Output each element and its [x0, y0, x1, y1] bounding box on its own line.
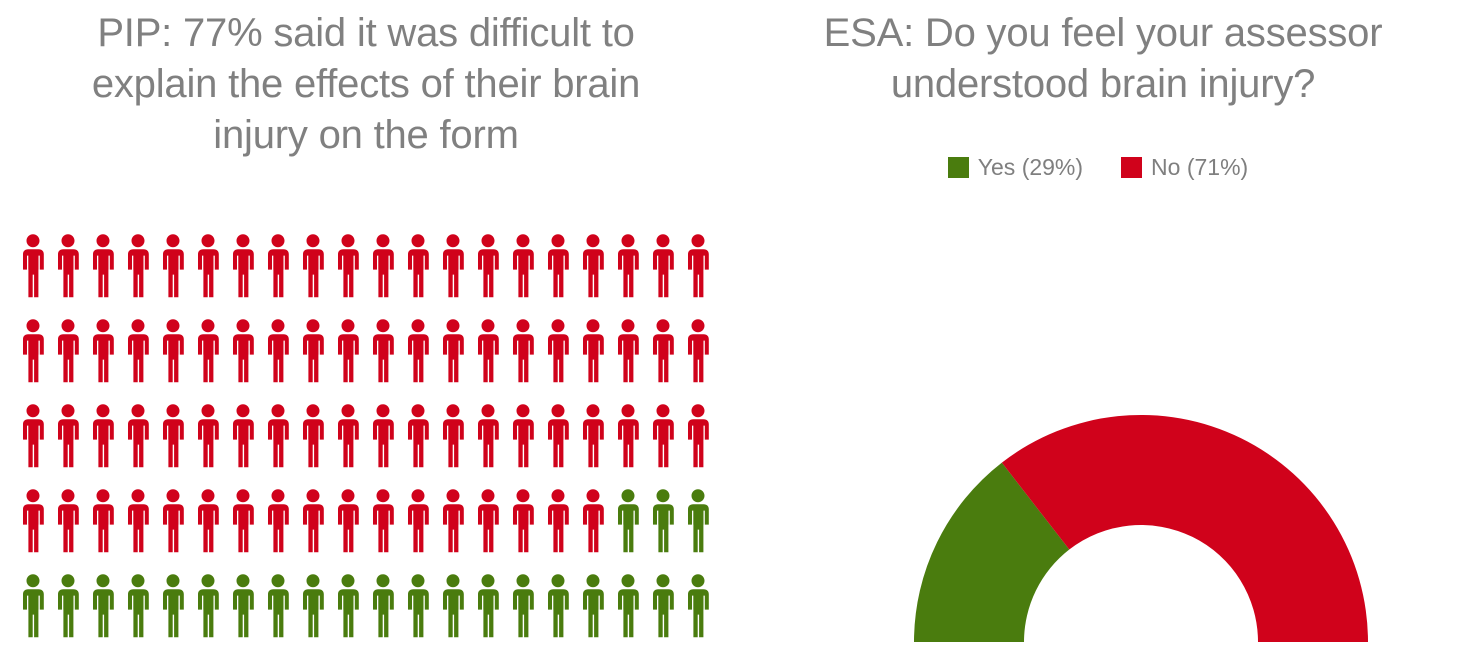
person-icon-red	[16, 232, 50, 300]
esa-title-line-1: ESA: Do you feel your assessor	[758, 8, 1448, 59]
person-icon-red	[51, 317, 85, 385]
person-icon-green	[86, 572, 120, 640]
legend-label-no: No (71%)	[1151, 156, 1248, 179]
person-icon-red	[86, 317, 120, 385]
person-icon-red	[261, 317, 295, 385]
person-icon-red	[331, 402, 365, 470]
person-icon-red	[646, 402, 680, 470]
person-icon-red	[121, 317, 155, 385]
person-icon-red	[401, 232, 435, 300]
person-icon-red	[611, 232, 645, 300]
person-icon-red	[16, 487, 50, 555]
esa-title-line-2: understood brain injury?	[758, 59, 1448, 110]
person-icon-green	[261, 572, 295, 640]
person-icon-green	[366, 572, 400, 640]
person-icon-green	[611, 572, 645, 640]
person-icon-red	[401, 317, 435, 385]
pip-pictogram-grid	[16, 232, 716, 657]
pip-title-line-3: injury on the form	[24, 110, 708, 161]
person-icon-red	[86, 402, 120, 470]
pip-chart-title: PIP: 77% said it was difficult to explai…	[24, 8, 708, 161]
person-icon-green	[401, 572, 435, 640]
person-icon-red	[366, 232, 400, 300]
pictogram-row	[16, 572, 716, 657]
person-icon-red	[51, 402, 85, 470]
person-icon-red	[191, 402, 225, 470]
person-icon-red	[121, 402, 155, 470]
person-icon-red	[576, 317, 610, 385]
person-icon-red	[121, 487, 155, 555]
person-icon-green	[296, 572, 330, 640]
person-icon-red	[191, 232, 225, 300]
person-icon-red	[191, 317, 225, 385]
legend-label-yes: Yes (29%)	[978, 156, 1083, 179]
person-icon-red	[436, 317, 470, 385]
person-icon-red	[436, 487, 470, 555]
donut-slice-yes	[914, 463, 1069, 642]
pictogram-row	[16, 232, 716, 317]
pip-title-line-1: PIP: 77% said it was difficult to	[24, 8, 708, 59]
person-icon-red	[506, 232, 540, 300]
person-icon-red	[646, 317, 680, 385]
legend-item-no: No (71%)	[1121, 156, 1248, 179]
person-icon-red	[576, 402, 610, 470]
person-icon-green	[646, 572, 680, 640]
person-icon-red	[261, 402, 295, 470]
person-icon-green	[226, 572, 260, 640]
person-icon-red	[156, 487, 190, 555]
person-icon-red	[506, 402, 540, 470]
person-icon-red	[471, 487, 505, 555]
person-icon-red	[296, 232, 330, 300]
person-icon-green	[646, 487, 680, 555]
person-icon-green	[156, 572, 190, 640]
person-icon-red	[331, 317, 365, 385]
person-icon-green	[681, 572, 715, 640]
person-icon-green	[191, 572, 225, 640]
person-icon-red	[226, 487, 260, 555]
person-icon-red	[541, 317, 575, 385]
pictogram-row	[16, 487, 716, 572]
person-icon-green	[331, 572, 365, 640]
person-icon-red	[51, 232, 85, 300]
pictogram-row	[16, 317, 716, 402]
person-icon-red	[261, 232, 295, 300]
person-icon-red	[506, 487, 540, 555]
person-icon-red	[541, 402, 575, 470]
person-icon-red	[366, 402, 400, 470]
person-icon-red	[541, 487, 575, 555]
person-icon-red	[121, 232, 155, 300]
slide-canvas: PIP: 77% said it was difficult to explai…	[0, 0, 1464, 666]
person-icon-green	[506, 572, 540, 640]
person-icon-red	[51, 487, 85, 555]
person-icon-red	[681, 232, 715, 300]
person-icon-red	[471, 232, 505, 300]
person-icon-red	[296, 487, 330, 555]
person-icon-green	[436, 572, 470, 640]
person-icon-red	[226, 402, 260, 470]
person-icon-red	[86, 232, 120, 300]
person-icon-red	[226, 317, 260, 385]
person-icon-green	[541, 572, 575, 640]
person-icon-green	[471, 572, 505, 640]
person-icon-red	[156, 232, 190, 300]
person-icon-red	[646, 232, 680, 300]
person-icon-red	[401, 487, 435, 555]
person-icon-red	[576, 232, 610, 300]
person-icon-green	[576, 572, 610, 640]
person-icon-red	[16, 402, 50, 470]
esa-donut-panel: ESA: Do you feel your assessor understoo…	[732, 0, 1464, 666]
person-icon-red	[296, 317, 330, 385]
esa-legend: Yes (29%) No (71%)	[732, 156, 1464, 179]
pip-title-line-2: explain the effects of their brain	[24, 59, 708, 110]
person-icon-red	[576, 487, 610, 555]
legend-item-yes: Yes (29%)	[948, 156, 1083, 179]
legend-swatch-yes-icon	[948, 157, 969, 178]
person-icon-red	[296, 402, 330, 470]
person-icon-red	[611, 402, 645, 470]
person-icon-red	[506, 317, 540, 385]
person-icon-red	[156, 317, 190, 385]
person-icon-red	[681, 317, 715, 385]
donut-slice-no	[1002, 415, 1368, 642]
person-icon-red	[16, 317, 50, 385]
pictogram-row	[16, 402, 716, 487]
person-icon-red	[331, 232, 365, 300]
person-icon-red	[541, 232, 575, 300]
person-icon-red	[401, 402, 435, 470]
esa-chart-title: ESA: Do you feel your assessor understoo…	[758, 8, 1448, 110]
person-icon-green	[121, 572, 155, 640]
person-icon-red	[436, 402, 470, 470]
person-icon-red	[366, 487, 400, 555]
person-icon-red	[191, 487, 225, 555]
person-icon-red	[86, 487, 120, 555]
person-icon-red	[156, 402, 190, 470]
person-icon-red	[471, 402, 505, 470]
person-icon-red	[261, 487, 295, 555]
person-icon-red	[611, 317, 645, 385]
person-icon-red	[681, 402, 715, 470]
person-icon-green	[611, 487, 645, 555]
pip-pictogram-panel: PIP: 77% said it was difficult to explai…	[0, 0, 732, 666]
person-icon-red	[226, 232, 260, 300]
person-icon-green	[681, 487, 715, 555]
person-icon-red	[366, 317, 400, 385]
person-icon-green	[16, 572, 50, 640]
person-icon-red	[471, 317, 505, 385]
person-icon-red	[331, 487, 365, 555]
legend-swatch-no-icon	[1121, 157, 1142, 178]
person-icon-green	[51, 572, 85, 640]
person-icon-red	[436, 232, 470, 300]
